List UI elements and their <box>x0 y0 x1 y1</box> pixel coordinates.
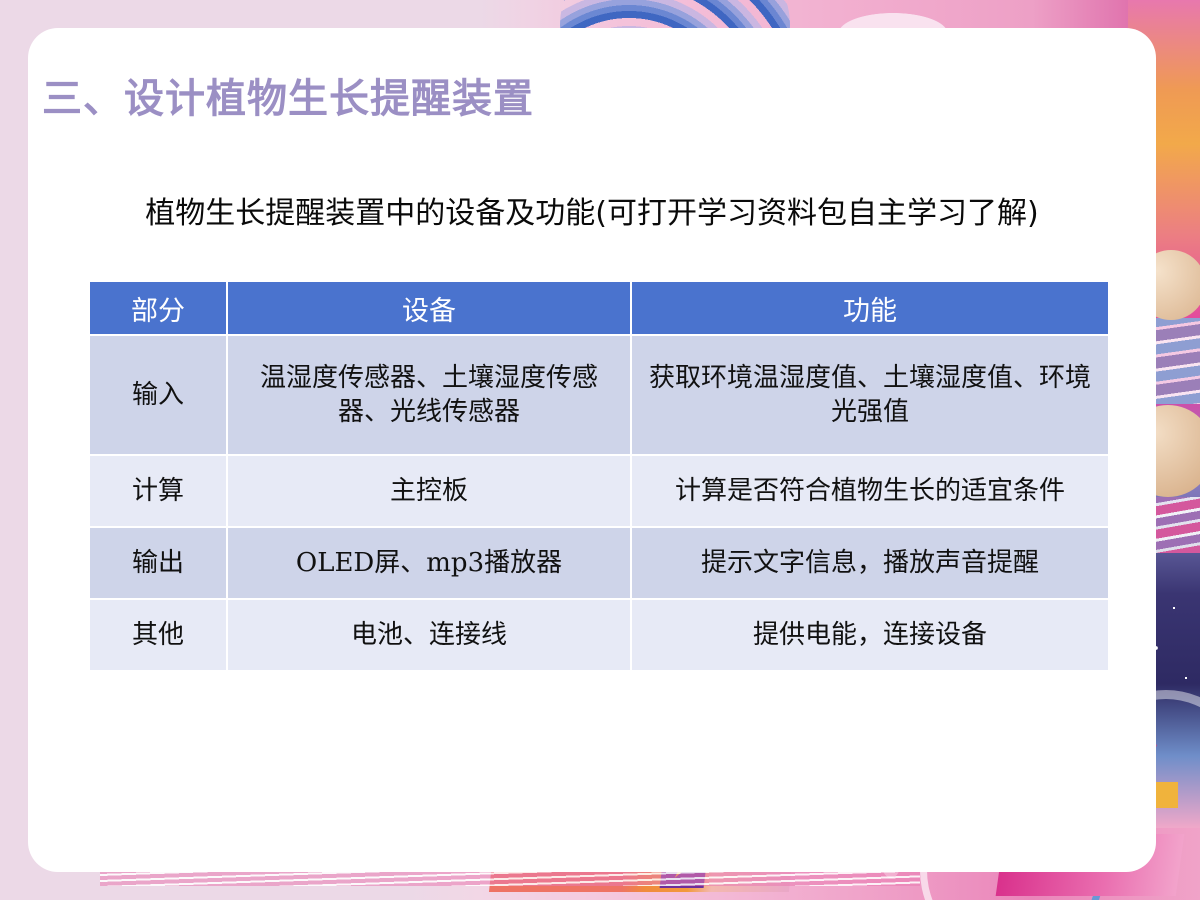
column-header-function: 功能 <box>632 282 1108 334</box>
cell-function: 提示文字信息，播放声音提醒 <box>632 528 1108 598</box>
cell-device: 温湿度传感器、土壤湿度传感器、光线传感器 <box>228 336 630 454</box>
cell-device: 主控板 <box>228 456 630 526</box>
cell-function: 获取环境温湿度值、土壤湿度值、环境光强值 <box>632 336 1108 454</box>
cell-part: 输出 <box>90 528 226 598</box>
table-row: 其他 电池、连接线 提供电能，连接设备 <box>90 600 1108 670</box>
cell-function: 计算是否符合植物生长的适宜条件 <box>632 456 1108 526</box>
slide-title: 三、设计植物生长提醒装置 <box>42 66 534 124</box>
table-body: 输入 温湿度传感器、土壤湿度传感器、光线传感器 获取环境温湿度值、土壤湿度值、环… <box>90 336 1108 670</box>
cell-device: OLED屏、mp3播放器 <box>228 528 630 598</box>
table-row: 计算 主控板 计算是否符合植物生长的适宜条件 <box>90 456 1108 526</box>
table-header-row: 部分 设备 功能 <box>90 282 1108 334</box>
column-header-part: 部分 <box>90 282 226 334</box>
yellow-square-decoration <box>1154 782 1178 808</box>
cell-part: 计算 <box>90 456 226 526</box>
cell-part: 其他 <box>90 600 226 670</box>
column-header-device: 设备 <box>228 282 630 334</box>
cell-device: 电池、连接线 <box>228 600 630 670</box>
table-row: 输出 OLED屏、mp3播放器 提示文字信息，播放声音提醒 <box>90 528 1108 598</box>
cell-function: 提供电能，连接设备 <box>632 600 1108 670</box>
device-function-table-container: 部分 设备 功能 输入 温湿度传感器、土壤湿度传感器、光线传感器 获取环境温湿度… <box>88 280 1104 672</box>
table-header: 部分 设备 功能 <box>90 282 1108 334</box>
device-function-table: 部分 设备 功能 输入 温湿度传感器、土壤湿度传感器、光线传感器 获取环境温湿度… <box>88 280 1110 672</box>
table-row: 输入 温湿度传感器、土壤湿度传感器、光线传感器 获取环境温湿度值、土壤湿度值、环… <box>90 336 1108 454</box>
presentation-slide: 三、设计植物生长提醒装置 植物生长提醒装置中的设备及功能(可打开学习资料包自主学… <box>0 0 1200 900</box>
cell-part: 输入 <box>90 336 226 454</box>
slide-content-card: 三、设计植物生长提醒装置 植物生长提醒装置中的设备及功能(可打开学习资料包自主学… <box>28 28 1156 872</box>
slide-subtitle: 植物生长提醒装置中的设备及功能(可打开学习资料包自主学习了解) <box>28 188 1156 232</box>
